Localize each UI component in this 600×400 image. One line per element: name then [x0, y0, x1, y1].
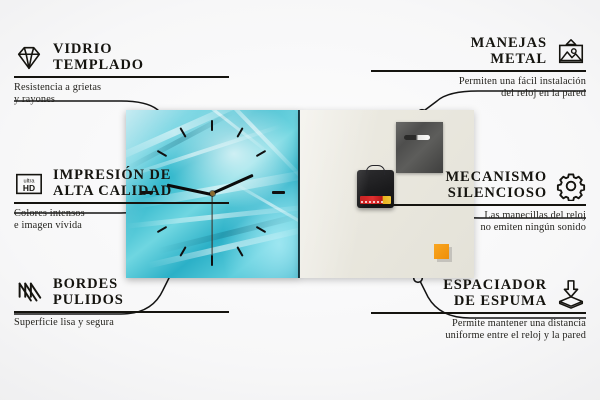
feature-vidrio-templado: VIDRIO TEMPLADO Resistencia a grietas y …	[14, 42, 229, 106]
feature-desc-line1: Resistencia a grietas	[14, 82, 229, 94]
feature-manejas-metal: MANEJAS METAL Permiten una fácil instala…	[371, 36, 586, 100]
feature-title-line1: MECANISMO	[445, 170, 547, 186]
feature-desc-line1: Las manecillas del reloj	[371, 210, 586, 222]
feature-title-line2: METAL	[471, 52, 547, 68]
gear-icon	[556, 171, 586, 201]
feature-rule	[14, 202, 229, 204]
feature-desc-line1: Colores intensos	[14, 208, 229, 220]
feature-title-line2: ALTA CALIDAD	[53, 184, 172, 200]
feature-mecanismo-silencioso: MECANISMO SILENCIOSO Las manecillas del …	[371, 170, 586, 234]
feature-desc-line2: e imagen vívida	[14, 220, 229, 232]
clock-marker	[256, 150, 267, 157]
diamond-icon	[14, 43, 44, 73]
feature-desc-line2: uniforme entre el reloj y la pared	[371, 330, 586, 342]
feature-desc-line1: Permite mantener una distancia	[371, 318, 586, 330]
metal-hanger-plate	[396, 122, 443, 173]
clock-marker	[236, 246, 243, 257]
feature-bordes-pulidos: BORDES PULIDOS Superficie lisa y segura	[14, 277, 229, 329]
feature-desc-line2: y rayones	[14, 94, 229, 106]
feature-title-line1: MANEJAS	[471, 36, 547, 52]
feature-impresion-alta-calidad: ultra HD IMPRESIÓN DE ALTA CALIDAD Color…	[14, 168, 229, 232]
feature-title-line1: IMPRESIÓN DE	[53, 168, 172, 184]
foam-spacer	[434, 244, 449, 259]
feature-rule	[14, 311, 229, 313]
clock-marker	[272, 191, 285, 194]
feature-rule	[371, 312, 586, 314]
feature-rule	[371, 70, 586, 72]
feature-desc-line1: Permiten una fácil instalación	[371, 76, 586, 88]
feature-title-line1: VIDRIO	[53, 42, 144, 58]
ultra-hd-icon: ultra HD	[14, 169, 44, 199]
feature-rule	[371, 204, 586, 206]
polished-edges-icon	[14, 278, 44, 308]
picture-frame-icon	[556, 37, 586, 67]
feature-desc-line1: Superficie lisa y segura	[14, 317, 229, 329]
feature-espaciador-espuma: ESPACIADOR DE ESPUMA Permite mantener un…	[371, 278, 586, 342]
feature-desc-line2: no emiten ningún sonido	[371, 222, 586, 234]
feature-title-line2: SILENCIOSO	[445, 186, 547, 202]
feature-desc-line2: del reloj en la pared	[371, 88, 586, 100]
feature-title-line2: TEMPLADO	[53, 58, 144, 74]
feature-rule	[14, 76, 229, 78]
svg-text:HD: HD	[23, 182, 35, 192]
clock-marker	[211, 120, 213, 131]
foam-spacer-icon	[556, 279, 586, 309]
infographic-canvas: VIDRIO TEMPLADO Resistencia a grietas y …	[0, 0, 600, 400]
clock-marker	[211, 255, 213, 266]
feature-title-line2: PULIDOS	[53, 293, 124, 309]
hanger-slot	[404, 135, 430, 140]
feature-title-line1: BORDES	[53, 277, 124, 293]
feature-title-line1: ESPACIADOR	[443, 278, 547, 294]
feature-title-line2: DE ESPUMA	[443, 294, 547, 310]
